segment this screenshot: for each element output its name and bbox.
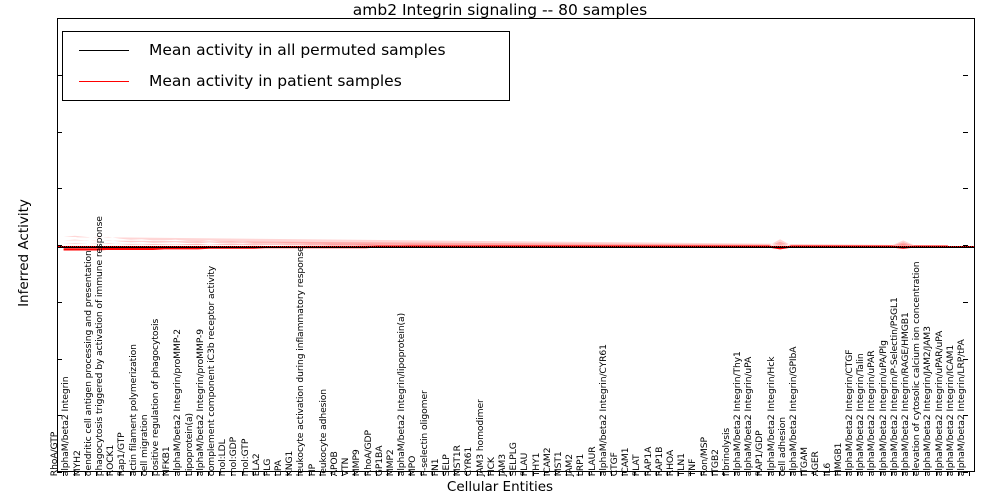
x-category-label: ICAM1 <box>621 447 630 476</box>
x-category-label: MMP2 <box>386 449 395 476</box>
x-axis-label: Cellular Entities <box>0 479 1000 495</box>
x-category-label: RhoA/GDP <box>363 430 372 476</box>
x-category-label: Ron/MSP <box>699 437 708 476</box>
x-category-label: AGER <box>811 451 820 476</box>
x-category-label: SELP <box>442 454 451 476</box>
x-category-label: fibrinolysis <box>722 428 731 476</box>
x-category-label: alphaM/beta2 Integrin/Talin <box>856 353 865 476</box>
x-category-label: elevation of cytosolic calcium ion conce… <box>912 261 921 476</box>
x-category-label: ITGB2 <box>711 449 720 476</box>
x-category-label: alphaM/beta2 Integrin/CYR61 <box>599 344 608 476</box>
x-category-label: mol:LDL <box>218 439 227 476</box>
x-category-label: alphaM/beta2 Integrin/uPA/Plg <box>878 340 887 476</box>
x-category-label: alphaM/beta2 Integrin/GPIbA <box>789 346 798 476</box>
x-category-label: LPA <box>274 460 283 476</box>
x-category-label: VTN <box>341 458 350 476</box>
x-category-label: FN1 <box>431 458 440 476</box>
x-category-label: GP1BA <box>375 445 384 476</box>
x-category-label: P-selectin oligomer <box>419 390 428 476</box>
x-category-label: alphaM/beta2 Integrin/uPA <box>744 357 753 476</box>
x-category-label: complement component iC3b receptor activ… <box>207 266 216 476</box>
x-category-label: RAP1B <box>655 447 664 477</box>
x-category-label: Rap1/GTP <box>117 432 126 476</box>
x-category-label: phagocytosis triggered by activation of … <box>95 216 104 476</box>
x-category-label: THY1 <box>531 452 540 476</box>
x-category-label: CYR61 <box>464 447 473 476</box>
x-category-label: PLAT <box>632 454 641 476</box>
x-category-label: ELA2 <box>252 453 261 476</box>
legend-label-patient: Mean activity in patient samples <box>149 67 402 96</box>
x-category-label: JAM2 <box>565 454 574 476</box>
x-category-label: MPO <box>408 456 417 476</box>
legend-item-permuted: Mean activity in all permuted samples <box>63 36 509 66</box>
x-category-label: alphaM/beta2 Integrin/uPAR/uPA <box>934 331 943 476</box>
x-category-label: alphaM/beta2 Integrin/LRP/tPA <box>957 339 966 476</box>
x-category-label: RAP1/GDP <box>755 430 764 476</box>
x-category-label: MST1 <box>554 451 563 476</box>
x-category-label: TLN1 <box>677 453 686 476</box>
x-category-label: alphaM/beta2 Integrin/lipoprotein(a) <box>397 313 406 476</box>
x-category-label: HMGB1 <box>834 442 843 476</box>
legend-item-patient: Mean activity in patient samples <box>63 67 509 97</box>
x-category-label: APOB <box>330 451 339 476</box>
x-category-label: positive regulation of phagocytosis <box>151 319 160 476</box>
x-tick-mark <box>969 472 970 476</box>
x-category-label: HP <box>307 464 316 476</box>
x-category-label: MST1R <box>453 445 462 476</box>
chart-title: amb2 Integrin signaling -- 80 samples <box>0 1 1000 19</box>
x-category-label: alphaM/beta2 Integrin/ICAM1 <box>946 345 955 476</box>
x-category-label: alphaM/beta2 Integrin/Thy1 <box>733 351 742 476</box>
y-axis-label: Inferred Activity <box>16 143 32 363</box>
x-category-label: alphaM/beta2 Integrin/RAGE/HMGB1 <box>901 312 910 476</box>
x-category-label: Lipoprotein(a) <box>184 413 193 476</box>
x-category-label: actin filament polymerization <box>128 344 137 476</box>
x-category-label: CTGF <box>610 452 619 476</box>
x-category-label: alphaM/beta2 Integrin/uPAR <box>867 350 876 476</box>
x-category-label: mol:GTP <box>240 439 249 476</box>
x-category-label: ICAM2 <box>543 447 552 476</box>
x-category-label: PLG <box>263 459 272 476</box>
x-category-label: alphaM/beta2 Integrin/proMMP-9 <box>196 329 205 476</box>
x-category-label: SELPLG <box>509 442 518 476</box>
x-category-label: ITGAM <box>800 447 809 476</box>
x-category-label: PLAUR <box>587 446 596 476</box>
x-category-label: ROCK1 <box>106 445 115 476</box>
x-category-label: JAM3 homodimer <box>475 399 484 476</box>
mean-patient-line <box>58 246 974 247</box>
x-category-label: RAP1A <box>643 447 652 476</box>
x-category-label: RHOA <box>666 450 675 476</box>
x-category-label: cell migration <box>140 414 149 476</box>
legend-label-permuted: Mean activity in all permuted samples <box>149 36 446 65</box>
x-category-label: JAM3 <box>498 454 507 476</box>
x-category-label: LRP1 <box>576 454 585 477</box>
x-category-label: mol:GDP <box>229 437 238 476</box>
x-category-label: MYH2 <box>72 450 81 476</box>
x-category-label: TNF <box>688 459 697 476</box>
x-category-label: leukocyte adhesion <box>319 389 328 476</box>
x-category-label: PLAU <box>520 453 529 476</box>
x-category-label: alphaM/beta2 Integrin/CTGF <box>845 349 854 476</box>
x-category-label: RhoA/GTP <box>50 432 59 476</box>
x-category-label: alphaM/beta2 Integrin/JAM2/JAM3 <box>923 326 932 476</box>
x-category-label: alphaM/beta2 Integrin <box>61 376 70 476</box>
legend: Mean activity in all permuted samples Me… <box>62 31 510 101</box>
x-category-label: dendritic cell antigen processing and pr… <box>84 250 93 476</box>
x-category-label: alphaM/beta2 Integrin/P-Selectin/PSGL1 <box>890 297 899 476</box>
chart-root: amb2 Integrin signaling -- 80 samples In… <box>0 0 1000 500</box>
x-category-label: alphaM/beta2 Integrin/proMMP-2 <box>173 329 182 476</box>
x-category-label: leukocyte activation during inflammatory… <box>296 246 305 476</box>
x-category-label: cell adhesion <box>778 417 787 476</box>
legend-swatch-red <box>79 81 129 82</box>
x-category-label: KNG1 <box>285 451 294 476</box>
x-category-label: MMP9 <box>352 449 361 476</box>
x-category-label: NFKB1 <box>162 446 171 476</box>
x-category-label: alphaM/beta2 Integrin/Hck <box>766 356 775 476</box>
legend-swatch-black <box>79 50 129 51</box>
x-category-label: IL6 <box>822 463 831 476</box>
x-category-label: HCK <box>487 457 496 476</box>
